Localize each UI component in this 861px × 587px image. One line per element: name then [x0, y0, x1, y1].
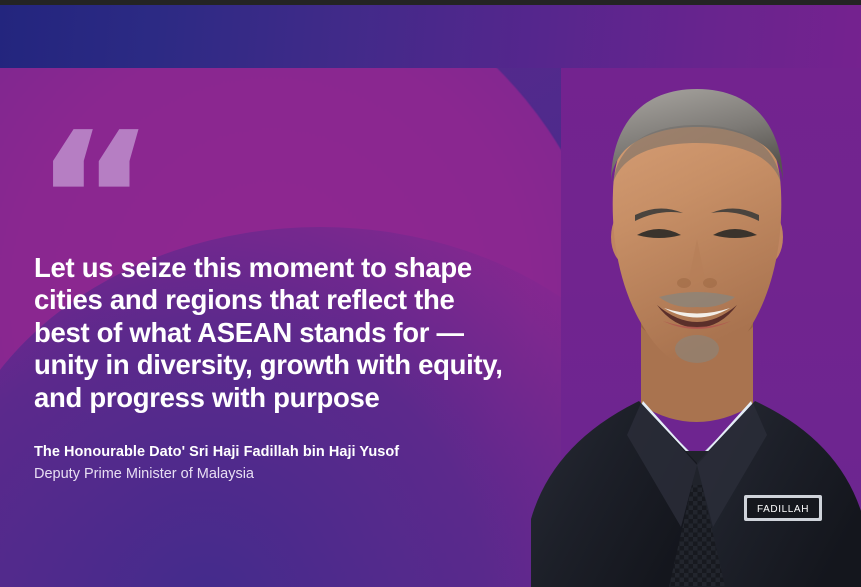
speaker-role: Deputy Prime Minister of Malaysia	[34, 465, 504, 485]
speaker-portrait: FADILLAH	[531, 87, 861, 587]
header-gradient-band	[0, 4, 861, 69]
attribution-block: The Honourable Dato' Sri Haji Fadillah b…	[34, 443, 504, 484]
quote-slide: “ Let us seize this moment to shape citi…	[0, 0, 861, 587]
speaker-name: The Honourable Dato' Sri Haji Fadillah b…	[34, 443, 504, 463]
name-badge: FADILLAH	[744, 495, 822, 521]
name-badge-text: FADILLAH	[757, 504, 809, 515]
top-dark-strip	[0, 0, 861, 5]
portrait-illustration: FADILLAH	[531, 87, 861, 587]
quote-text-block: Let us seize this moment to shape cities…	[34, 252, 504, 414]
quote-text: Let us seize this moment to shape cities…	[34, 252, 504, 414]
